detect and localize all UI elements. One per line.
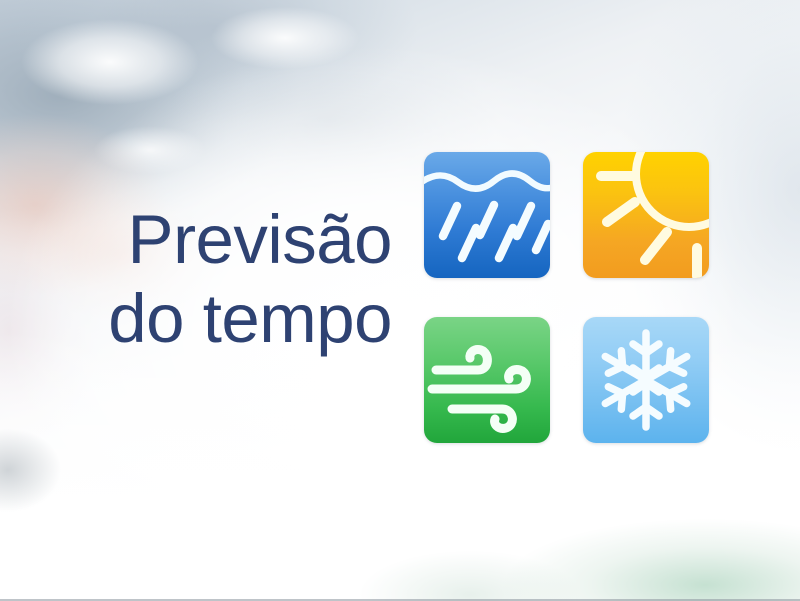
title-line-1: Previsão bbox=[0, 206, 392, 274]
title-line-2: do tempo bbox=[0, 285, 392, 353]
weather-icon-grid bbox=[424, 152, 709, 444]
page-title: Previsão do tempo bbox=[0, 206, 392, 352]
slide-canvas: Previsão do tempo bbox=[0, 0, 800, 601]
rain-icon[interactable] bbox=[424, 152, 550, 278]
wind-icon[interactable] bbox=[424, 317, 550, 443]
snowflake-icon[interactable] bbox=[583, 317, 709, 443]
sun-icon[interactable] bbox=[583, 152, 709, 278]
